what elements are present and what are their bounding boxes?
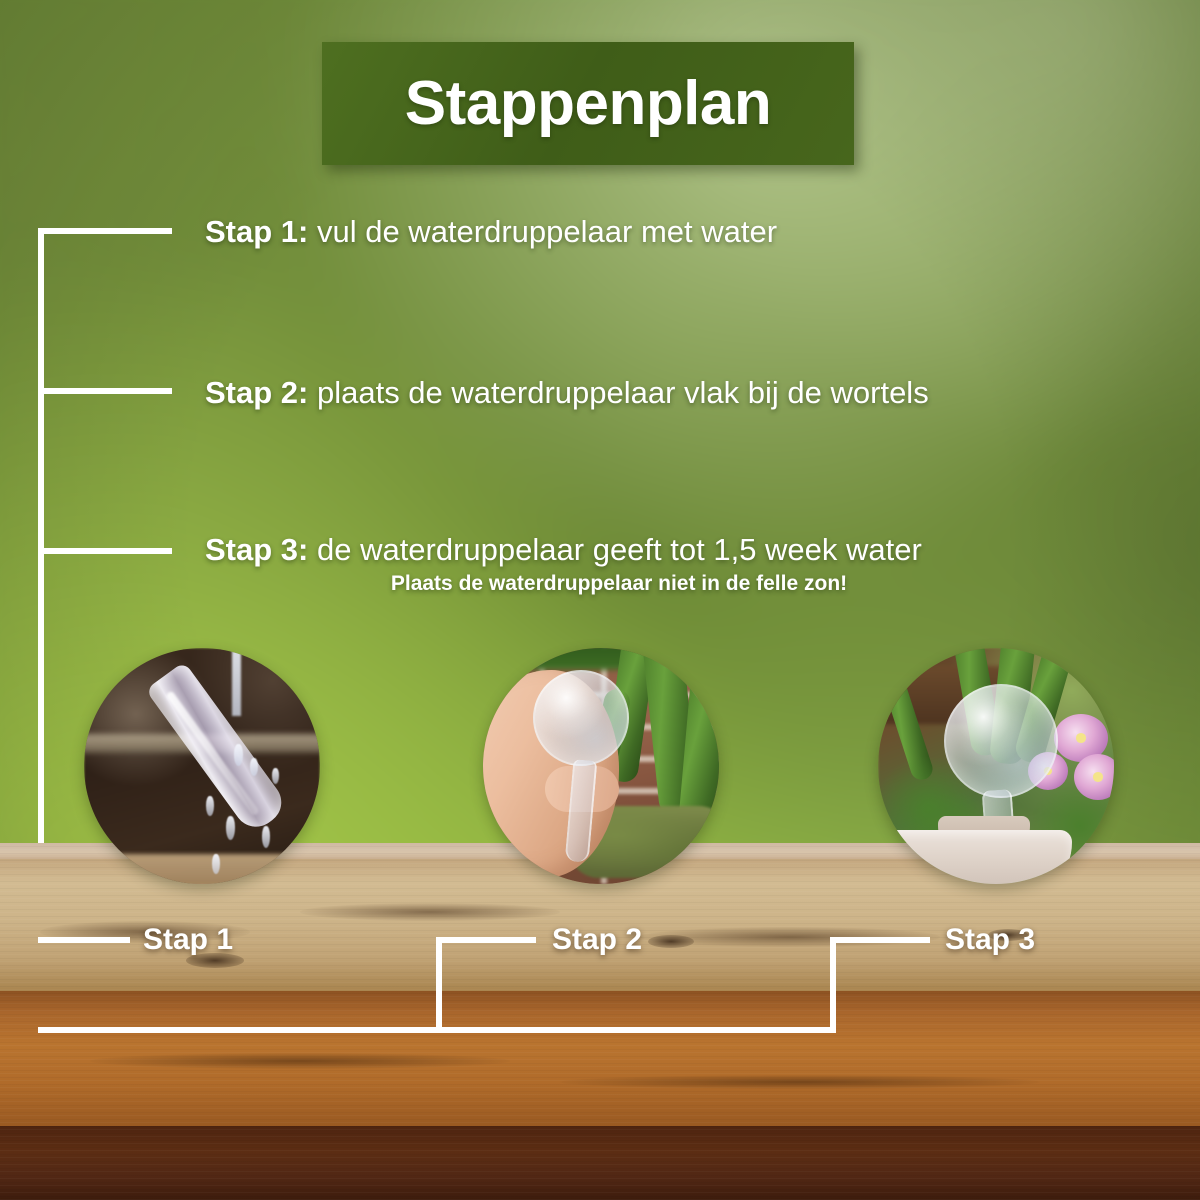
step-row-2: Stap 2: plaats de waterdruppelaar vlak b… (205, 375, 929, 411)
water-drop (250, 758, 258, 776)
step-2-photo (483, 648, 719, 884)
pink-flower (1074, 754, 1114, 800)
plank-label-step-2: Stap 2 (552, 923, 642, 957)
bracket-tick-step-1 (38, 228, 172, 234)
bracket-tick-step-3 (38, 548, 172, 554)
title-banner: Stappenplan (322, 42, 854, 165)
plank-label-step-1: Stap 1 (143, 923, 233, 957)
step-3-label: Stap 3: (205, 532, 308, 567)
water-drop (226, 816, 235, 840)
plank-streak (300, 903, 560, 921)
plank-knot (648, 935, 694, 948)
bottom-riser-step-3 (830, 937, 836, 1033)
plank-streak (560, 1075, 1040, 1089)
bottom-riser-step-2 (436, 937, 442, 1033)
step-2-label: Stap 2: (205, 375, 308, 410)
wooden-plank (0, 843, 1200, 1200)
plank-streak (90, 1053, 510, 1069)
water-drop (234, 744, 243, 766)
step-3-photo (878, 648, 1114, 884)
photo-1-ledge (84, 854, 320, 884)
plank-grain-texture (0, 843, 1200, 1200)
watering-globe (944, 684, 1058, 798)
bottom-tick-step-2 (436, 937, 536, 943)
step-2-text: plaats de waterdruppelaar vlak bij de wo… (308, 375, 928, 410)
watering-globe (533, 670, 629, 766)
water-drop (262, 826, 270, 848)
step-row-3: Stap 3: de waterdruppelaar geeft tot 1,5… (205, 532, 922, 568)
bottom-tick-step-3 (830, 937, 930, 943)
step-3-text: de waterdruppelaar geeft tot 1,5 week wa… (308, 532, 921, 567)
warning-note: Plaats de waterdruppelaar niet in de fel… (205, 572, 1033, 596)
plank-label-step-3: Stap 3 (945, 923, 1035, 957)
bottom-run-left (38, 1027, 442, 1033)
water-drop (212, 854, 220, 874)
bottom-tick-step-1 (38, 937, 130, 943)
plant-pot (884, 830, 1072, 884)
step-1-photo (84, 648, 320, 884)
water-drop (206, 796, 214, 816)
infographic-stage: Stappenplan Stap 1: vul de waterdruppela… (0, 0, 1200, 1200)
bracket-tick-step-2 (38, 388, 172, 394)
step-1-text: vul de waterdruppelaar met water (308, 214, 777, 249)
step-1-label: Stap 1: (205, 214, 308, 249)
water-stream-icon (232, 648, 241, 716)
water-drop (272, 768, 279, 784)
page-title: Stappenplan (405, 73, 772, 135)
step-row-1: Stap 1: vul de waterdruppelaar met water (205, 214, 777, 250)
bottom-run-middle (436, 1027, 836, 1033)
